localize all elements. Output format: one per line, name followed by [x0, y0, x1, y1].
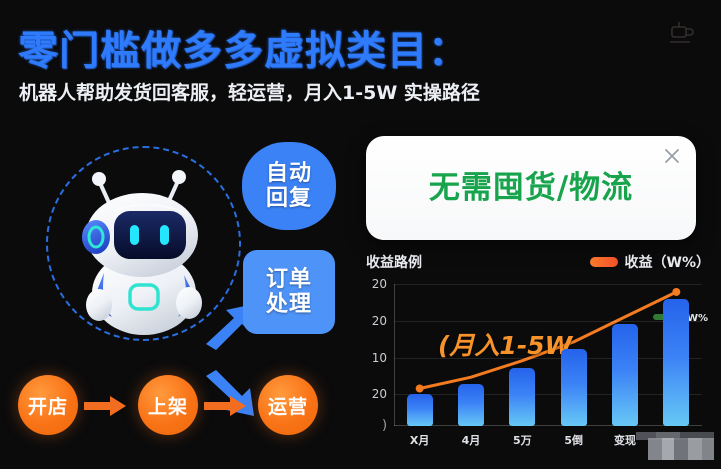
step-operate[interactable]: 运营: [258, 375, 318, 435]
callout-order-line1: 订单: [266, 267, 312, 292]
legend-label-revenue: 收益（W%）: [625, 252, 710, 272]
chart-annotation-income: (月入1-5W: [438, 326, 572, 362]
blurred-watermark-region: [648, 438, 714, 460]
chart-plot-area: (月入1-5W 月W% 20201020X月4月5万5倒变现: [394, 284, 702, 426]
chart-legend: 收益（W%）: [590, 252, 710, 272]
chart-bar: [407, 394, 433, 426]
callout-auto-reply-line2: 回复: [266, 186, 312, 211]
promo-card: 无需囤货/物流: [366, 136, 696, 240]
step-operate-label: 运营: [268, 392, 308, 419]
cup-logo-watermark-icon: [663, 18, 697, 52]
trend-point: [416, 385, 424, 393]
chart-bar: [663, 299, 689, 426]
robot-diagram-zone: [8, 128, 248, 368]
chart-bar: [458, 384, 484, 426]
trend-point: [672, 288, 680, 296]
step-list-product-label: 上架: [148, 392, 188, 419]
legend-swatch-revenue: [590, 257, 618, 267]
y-axis-tick: 10: [372, 351, 387, 365]
y-axis-tick: 20: [372, 387, 387, 401]
callout-auto-reply[interactable]: 自动 回复: [242, 142, 336, 230]
gridline: [394, 284, 702, 285]
page-subtitle: 机器人帮助发货回客服，轻运营，月入1-5W 实操路径: [19, 78, 480, 105]
chart-bar: [509, 368, 535, 427]
callout-auto-reply-line1: 自动: [266, 161, 312, 186]
x-axis-tick: 5倒: [564, 432, 583, 448]
step-arrow-2-icon: [204, 395, 246, 417]
step-open-shop-label: 开店: [28, 392, 68, 419]
chart-bar: [612, 324, 638, 426]
page-title: 零门槛做多多虚拟类目：: [18, 18, 469, 76]
x-axis-tick: 变现: [614, 432, 636, 448]
x-axis-tick: 5万: [513, 432, 532, 448]
gridline: [394, 358, 702, 359]
gridline: [394, 394, 702, 395]
x-axis-tick: 4月: [462, 432, 481, 448]
step-open-shop[interactable]: 开店: [18, 375, 78, 435]
promo-text: 无需囤货/物流: [366, 162, 696, 207]
callout-order-line2: 处理: [266, 292, 312, 317]
close-icon[interactable]: [660, 144, 684, 168]
callout-order-processing[interactable]: 订单 处理: [243, 250, 335, 334]
gridline: [394, 321, 702, 322]
process-steps: 开店 上架 运营: [18, 375, 358, 437]
y-axis-tick: 20: [372, 314, 387, 328]
step-list-product[interactable]: 上架: [138, 375, 198, 435]
chart-bar: [561, 349, 587, 426]
step-arrow-1-icon: [84, 395, 126, 417]
y-axis-bottom-glyph: ): [382, 418, 387, 433]
header-banner: 零门槛做多多虚拟类目： 机器人帮助发货回客服，轻运营，月入1-5W 实操路径: [0, 0, 721, 118]
chart-title: 收益路例: [366, 252, 422, 272]
x-axis-tick: X月: [410, 432, 429, 448]
y-axis-tick: 20: [372, 277, 387, 291]
